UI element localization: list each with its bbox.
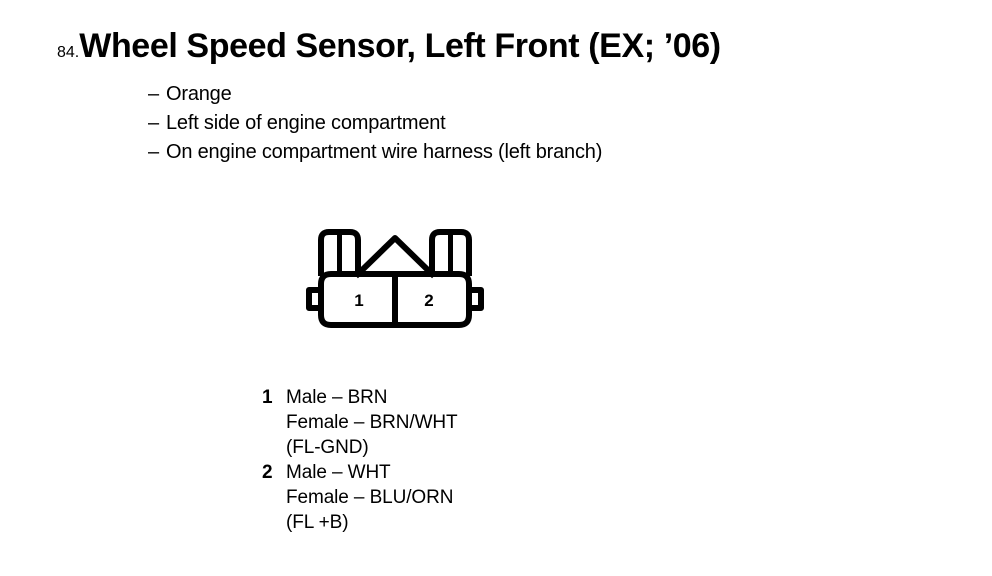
- pin-detail-lines: Male – WHT Female – BLU/ORN (FL +B): [286, 460, 662, 535]
- pin-legend: 1 Male – BRN Female – BRN/WHT (FL-GND) 2…: [262, 385, 662, 535]
- pin-number: 2: [262, 460, 286, 485]
- pin-number: 1: [262, 385, 286, 410]
- list-item: –Orange: [148, 80, 908, 109]
- connector-diagram: 1 2: [290, 218, 500, 338]
- entry-title-row: 84. Wheel Speed Sensor, Left Front (EX; …: [57, 27, 957, 69]
- list-item: –On engine compartment wire harness (lef…: [148, 138, 908, 167]
- pin-detail-line: Male – WHT: [286, 460, 662, 485]
- list-item: –Left side of engine compartment: [148, 109, 908, 138]
- cavity-number-1: 1: [354, 291, 363, 310]
- dash-marker: –: [148, 109, 166, 138]
- pin-detail-lines: Male – BRN Female – BRN/WHT (FL-GND): [286, 385, 662, 460]
- page-title: Wheel Speed Sensor, Left Front (EX; ’06): [79, 27, 720, 66]
- dash-marker: –: [148, 80, 166, 109]
- pin-legend-entry-1: 1 Male – BRN Female – BRN/WHT (FL-GND): [262, 385, 662, 460]
- cavity-number-2: 2: [424, 291, 433, 310]
- pin-detail-line: (FL +B): [286, 510, 662, 535]
- pin-detail-line: Female – BLU/ORN: [286, 485, 662, 510]
- entry-number: 84.: [57, 44, 79, 62]
- pin-detail-line: Female – BRN/WHT: [286, 410, 662, 435]
- attribute-list: –Orange –Left side of engine compartment…: [148, 80, 908, 167]
- pin-detail-line: (FL-GND): [286, 435, 662, 460]
- list-item-label: Left side of engine compartment: [166, 112, 446, 134]
- pin-detail-line: Male – BRN: [286, 385, 662, 410]
- list-item-label: On engine compartment wire harness (left…: [166, 141, 602, 163]
- dash-marker: –: [148, 138, 166, 167]
- list-item-label: Orange: [166, 83, 232, 105]
- pin-legend-entry-2: 2 Male – WHT Female – BLU/ORN (FL +B): [262, 460, 662, 535]
- center-ridge-peak: [358, 238, 432, 274]
- connector-illustration: 1 2: [290, 218, 500, 338]
